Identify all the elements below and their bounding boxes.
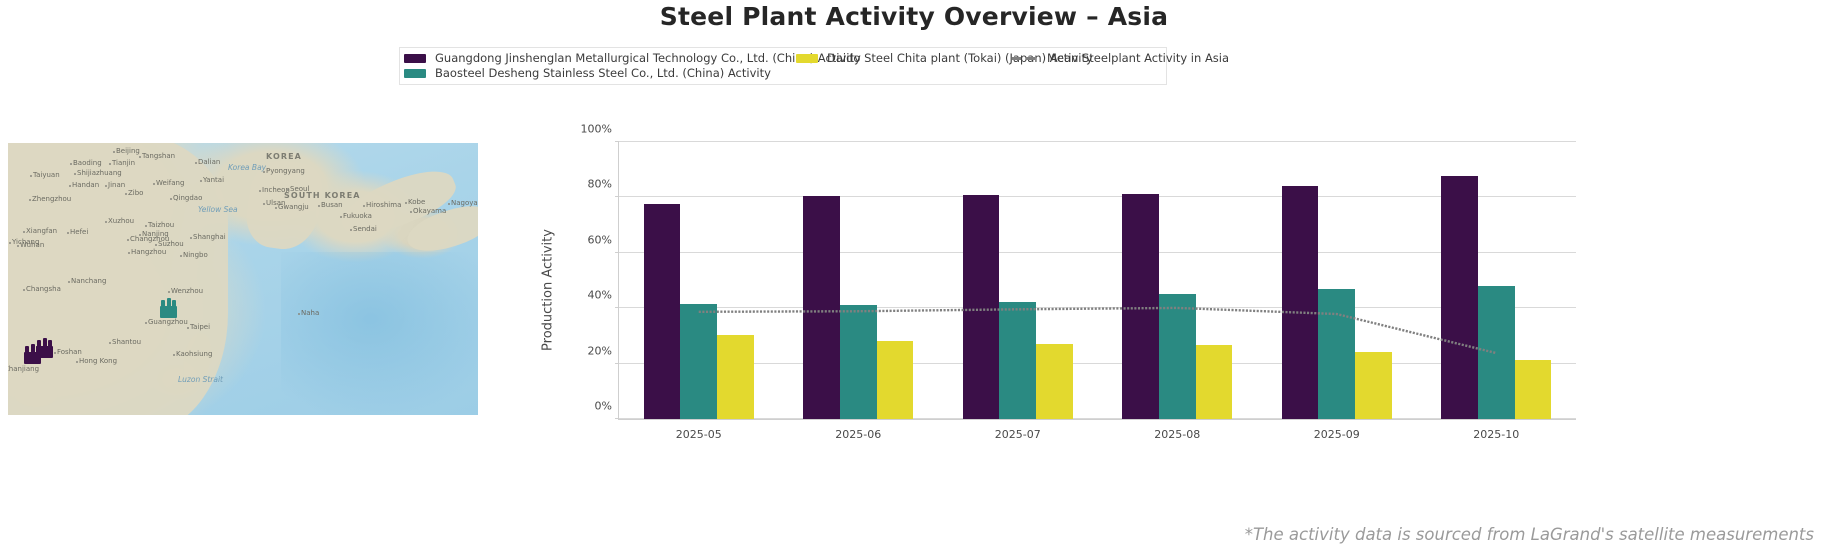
y-axis-tick-label: 80% (588, 178, 612, 191)
map-city-dot (145, 225, 147, 227)
legend-swatch-daido-steel-chita (796, 54, 818, 63)
map-landmass-hainan (14, 381, 58, 407)
map-city-dot (263, 203, 265, 205)
y-axis-title: Production Activity (541, 229, 556, 351)
map-city-dot (405, 202, 407, 204)
y-axis-tick-label: 100% (581, 123, 612, 136)
map-city-dot (298, 313, 300, 315)
page-title: Steel Plant Activity Overview – Asia (0, 2, 1828, 31)
legend-swatch-baosteel-desheng (404, 69, 426, 78)
map-city-dot (168, 291, 170, 293)
x-axis-tick-label: 2025-09 (1314, 428, 1360, 441)
legend-label-mean-activity: Mean Steelplant Activity in Asia (1047, 52, 1229, 65)
map-city-dot (23, 231, 25, 233)
legend-item-daido-steel-chita[interactable]: Daido Steel Chita plant (Tokai) (Japan) … (796, 51, 1012, 66)
map-city-dot (275, 207, 277, 209)
legend-swatch-guangdong-jinshenglan (404, 54, 426, 63)
legend-swatch-dashed-line-icon (1012, 53, 1038, 64)
x-axis-tick-label: 2025-08 (1154, 428, 1200, 441)
y-axis-tick-label: 20% (588, 344, 612, 357)
map-city-dot (139, 156, 141, 158)
baosteel-desheng-plant-marker[interactable] (160, 299, 177, 318)
map-city-dot (30, 175, 32, 177)
map-city-dot (340, 216, 342, 218)
asia-map-panel[interactable]: BeijingTangshanTianjinBaodingDalianPyong… (8, 143, 478, 415)
activity-bar-chart: Production Activity 0%20%40%60%80%100% 2… (566, 130, 1576, 450)
map-city-dot (153, 183, 155, 185)
x-axis-tick-label: 2025-10 (1473, 428, 1519, 441)
map-city-dot (410, 211, 412, 213)
y-axis-tick-label: 0% (595, 400, 612, 413)
chart-plot-area: 0%20%40%60%80%100% 2025-052025-062025-07… (618, 142, 1576, 420)
x-axis-tick-label: 2025-07 (995, 428, 1041, 441)
legend-label-baosteel-desheng: Baosteel Desheng Stainless Steel Co., Lt… (435, 67, 771, 80)
x-axis-tick-label: 2025-05 (676, 428, 722, 441)
x-axis-ticks: 2025-052025-062025-072025-082025-092025-… (619, 142, 1576, 419)
map-city-dot (69, 185, 71, 187)
x-axis-tick-label: 2025-06 (835, 428, 881, 441)
map-city-dot (128, 252, 130, 254)
map-city-dot (350, 229, 352, 231)
map-city-dot (263, 171, 265, 173)
map-city-dot (125, 193, 127, 195)
map-city-dot (68, 281, 70, 283)
map-city-dot (318, 205, 320, 207)
map-city-dot (145, 322, 147, 324)
map-city-dot (67, 232, 69, 234)
map-city-dot (105, 185, 107, 187)
y-axis-tick-label: 60% (588, 233, 612, 246)
map-city-dot (127, 239, 129, 241)
legend-item-guangdong-jinshenglan[interactable]: Guangdong Jinshenglan Metallurgical Tech… (404, 51, 796, 66)
map-city-dot (259, 190, 261, 192)
map-city-dot (105, 221, 107, 223)
map-city-dot (195, 162, 197, 164)
map-city-dot (448, 203, 450, 205)
map-city-dot (9, 242, 11, 244)
map-city-dot (180, 255, 182, 257)
map-city-dot (200, 180, 202, 182)
map-city-dot (190, 237, 192, 239)
map-city-dot (155, 244, 157, 246)
map-city-dot (54, 352, 56, 354)
map-city-dot (109, 342, 111, 344)
map-city-dot (29, 199, 31, 201)
map-city-dot (287, 189, 289, 191)
data-source-footnote: *The activity data is sourced from LaGra… (1245, 525, 1814, 544)
legend-item-mean-activity[interactable]: Mean Steelplant Activity in Asia (1012, 51, 1162, 66)
map-city-dot (109, 163, 111, 165)
map-city-dot (74, 173, 76, 175)
map-city-dot (187, 327, 189, 329)
y-axis-tick-label: 40% (588, 289, 612, 302)
map-city-dot (70, 163, 72, 165)
map-city-dot (170, 198, 172, 200)
map-city-dot (17, 245, 19, 247)
guangdong-jinshenglan-plant-marker-b[interactable] (24, 345, 41, 364)
map-deep-sea-shading (281, 252, 478, 415)
chart-legend: Guangdong Jinshenglan Metallurgical Tech… (399, 47, 1167, 85)
map-city-dot (23, 289, 25, 291)
legend-item-baosteel-desheng[interactable]: Baosteel Desheng Stainless Steel Co., Lt… (404, 66, 796, 81)
map-city-dot (363, 205, 365, 207)
map-city-dot (139, 234, 141, 236)
map-city-dot (76, 361, 78, 363)
map-city-dot (173, 354, 175, 356)
map-city-dot (113, 151, 115, 153)
